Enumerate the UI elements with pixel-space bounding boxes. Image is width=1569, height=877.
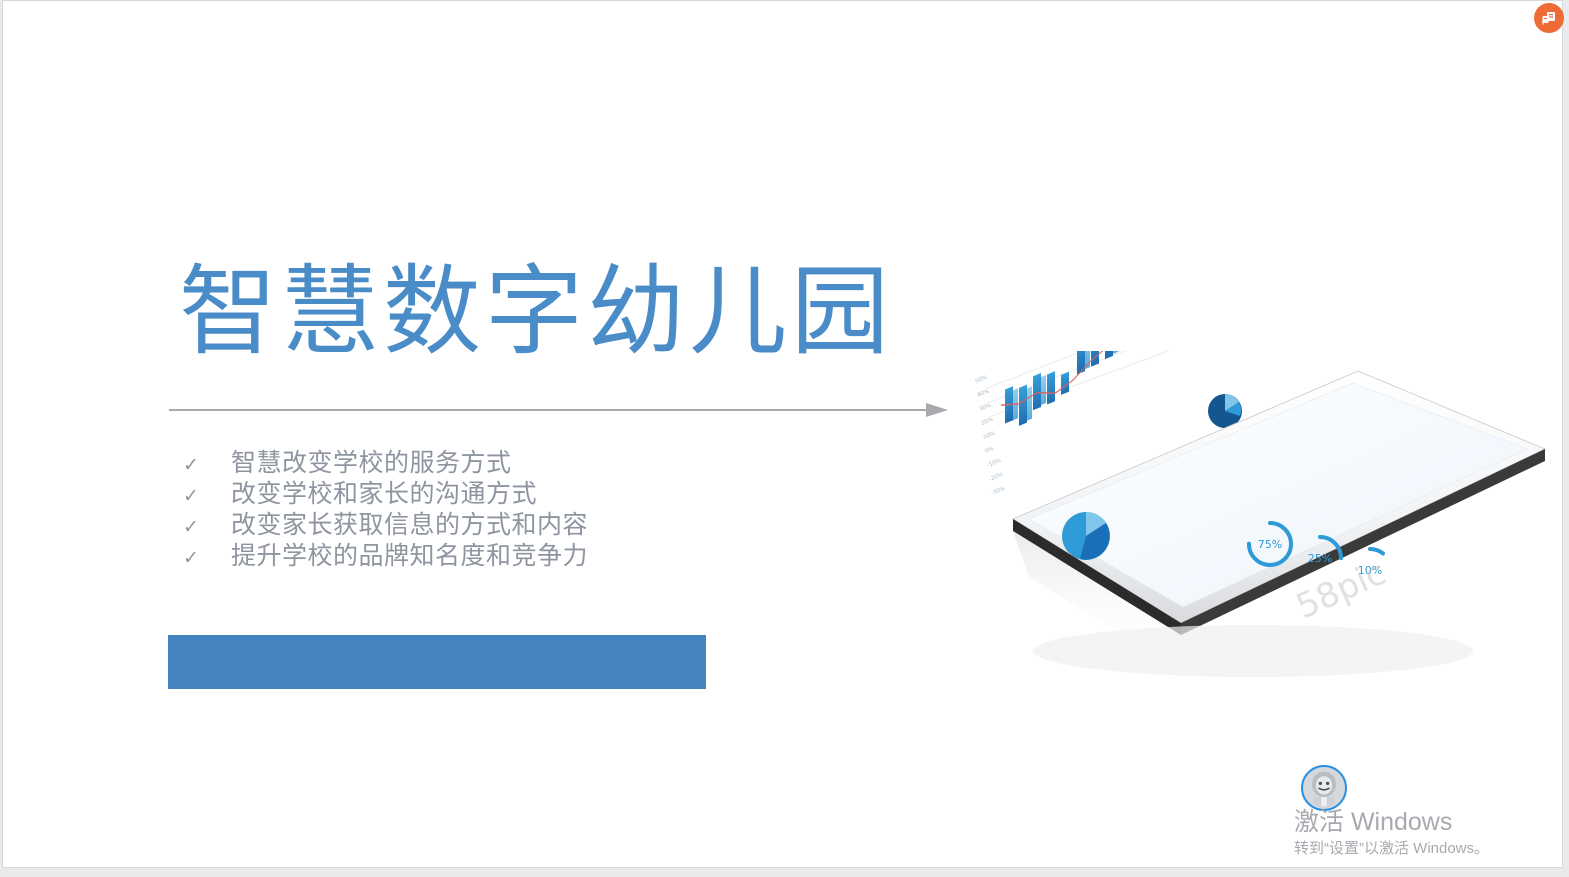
svg-text:-30%: -30% [991, 486, 1006, 497]
check-icon: ✓ [183, 512, 231, 543]
check-icon: ✓ [183, 543, 231, 574]
svg-text:-10%: -10% [987, 458, 1002, 469]
svg-text:50%: 50% [975, 375, 989, 385]
bullet-list: ✓ 智慧改变学校的服务方式 ✓ 改变学校和家长的沟通方式 ✓ 改变家长获取信息的… [183, 443, 743, 567]
presentation-slide: 智慧数字幼儿园 ✓ 智慧改变学校的服务方式 ✓ 改变学校和家长的沟通方式 ✓ 改… [2, 0, 1563, 868]
svg-text:30%: 30% [979, 403, 993, 413]
watermark-title: 激活 Windows [1294, 807, 1554, 837]
convert-document-icon [1540, 9, 1558, 27]
list-item: ✓ 改变家长获取信息的方式和内容 [183, 505, 743, 536]
list-item: ✓ 提升学校的品牌知名度和竞争力 [183, 536, 743, 567]
arrow-divider [169, 403, 949, 417]
list-item: ✓ 智慧改变学校的服务方式 [183, 443, 743, 474]
data-visualization-illustration: 50% 40% 30% 20% 10% 0% -10% -20% -30% [833, 351, 1563, 771]
check-icon: ✓ [183, 481, 231, 512]
list-item: ✓ 改变学校和家长的沟通方式 [183, 474, 743, 505]
svg-text:10%: 10% [983, 431, 997, 441]
watermark-subtitle: 转到“设置”以激活 Windows。 [1294, 838, 1554, 860]
list-item-label: 提升学校的品牌知名度和竞争力 [231, 536, 588, 572]
accent-bar [168, 635, 706, 689]
convert-document-badge[interactable] [1534, 3, 1564, 33]
divider-line [169, 409, 929, 411]
svg-text:40%: 40% [977, 389, 991, 399]
screenshot-root: 智慧数字幼儿园 ✓ 智慧改变学校的服务方式 ✓ 改变学校和家长的沟通方式 ✓ 改… [0, 0, 1569, 877]
windows-activation-watermark: 激活 Windows 转到“设置”以激活 Windows。 [1294, 807, 1554, 860]
page-title: 智慧数字幼儿园 [179, 263, 893, 361]
check-icon: ✓ [183, 450, 231, 481]
svg-text:20%: 20% [981, 417, 995, 427]
gauge-label-75: 75% [1258, 538, 1282, 551]
svg-text:-20%: -20% [989, 472, 1004, 483]
penguin-avatar[interactable] [1301, 765, 1347, 811]
gauge-label-25: 25% [1308, 552, 1332, 565]
